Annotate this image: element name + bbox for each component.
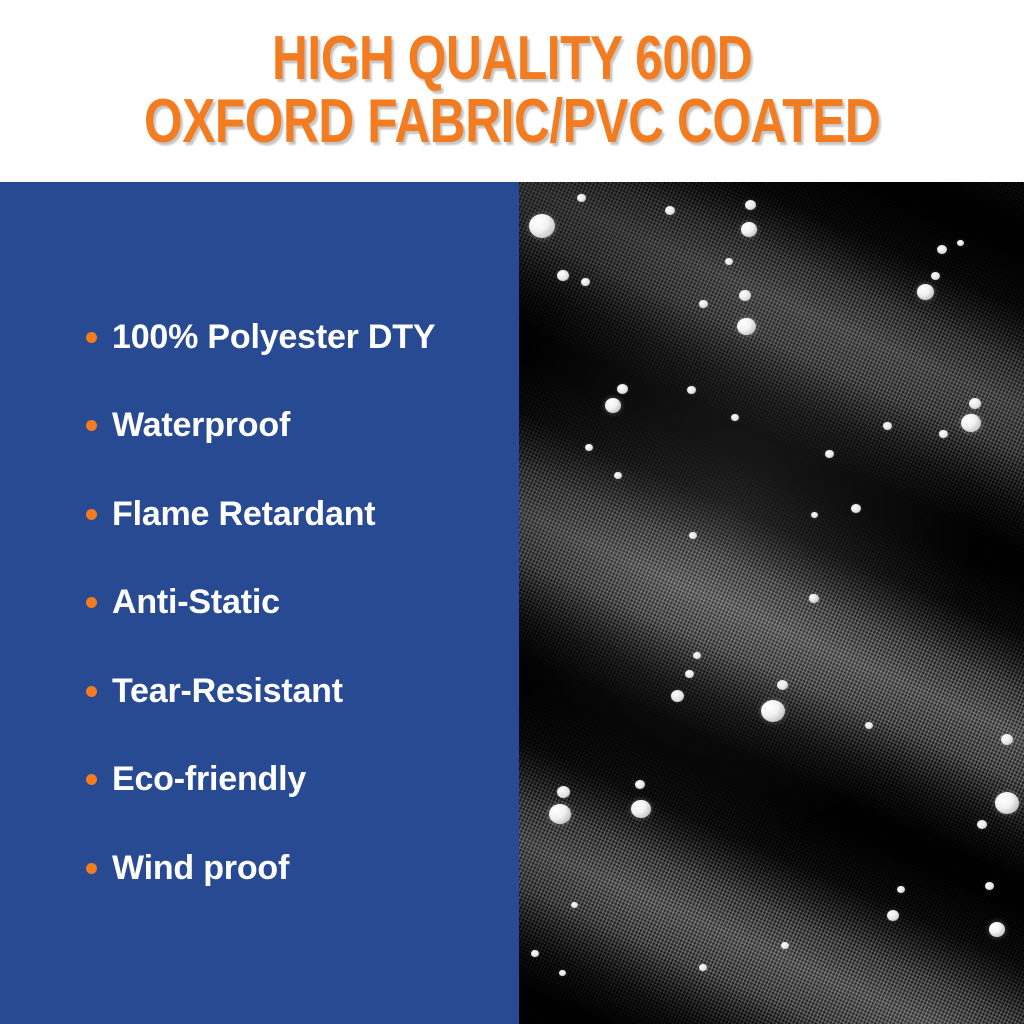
product-infographic: HIGH QUALITY 600D OXFORD FABRIC/PVC COAT…: [0, 0, 1024, 1024]
water-droplet: [549, 804, 571, 824]
feature-label: Wind proof: [112, 851, 289, 885]
water-droplet: [865, 722, 873, 729]
water-droplet-group: [519, 182, 1024, 1024]
water-droplet: [739, 290, 751, 301]
water-droplet: [995, 792, 1019, 814]
water-droplet: [731, 414, 739, 421]
features-panel: 100% Polyester DTYWaterproofFlame Retard…: [0, 182, 519, 1024]
water-droplet: [614, 472, 622, 479]
water-droplet: [531, 950, 539, 957]
water-droplet: [687, 386, 696, 394]
water-droplet: [577, 194, 586, 202]
water-droplet: [937, 245, 947, 254]
water-droplet: [635, 780, 645, 789]
header-band: HIGH QUALITY 600D OXFORD FABRIC/PVC COAT…: [0, 0, 1024, 182]
water-droplet: [581, 278, 590, 286]
water-droplet: [699, 300, 708, 308]
feature-item: Anti-Static: [86, 582, 280, 622]
water-droplet: [939, 430, 948, 438]
water-droplet: [883, 422, 892, 430]
water-droplet: [689, 532, 697, 539]
water-droplet: [957, 240, 964, 246]
water-droplet: [825, 450, 834, 458]
water-droplet: [917, 284, 934, 300]
water-droplet: [631, 800, 651, 818]
feature-label: Tear-Resistant: [112, 674, 343, 708]
water-droplet: [741, 222, 757, 237]
water-droplet: [851, 504, 861, 513]
water-droplet: [671, 690, 684, 702]
bullet-dot-icon: [86, 420, 97, 431]
feature-list: 100% Polyester DTYWaterproofFlame Retard…: [0, 182, 519, 1024]
water-droplet: [699, 964, 707, 971]
feature-item: Flame Retardant: [86, 494, 375, 534]
water-droplet: [557, 786, 570, 798]
water-droplet: [1001, 734, 1013, 745]
bullet-dot-icon: [86, 597, 97, 608]
feature-label: Waterproof: [112, 408, 290, 442]
water-droplet: [559, 970, 566, 976]
water-droplet: [745, 200, 756, 210]
water-droplet: [665, 206, 675, 215]
headline-line-1: HIGH QUALITY 600D: [272, 29, 752, 90]
headline-line-2: OXFORD FABRIC/PVC COATED: [144, 92, 880, 153]
bullet-dot-icon: [86, 686, 97, 697]
feature-label: 100% Polyester DTY: [112, 320, 435, 354]
water-droplet: [693, 652, 701, 659]
feature-item: Wind proof: [86, 848, 289, 888]
water-droplet: [685, 670, 694, 678]
water-droplet: [777, 680, 788, 690]
feature-item: Eco-friendly: [86, 759, 306, 799]
water-droplet: [989, 922, 1005, 937]
water-droplet: [585, 444, 593, 451]
feature-item: Tear-Resistant: [86, 671, 343, 711]
feature-item: 100% Polyester DTY: [86, 317, 435, 357]
water-droplet: [969, 398, 981, 409]
feature-label: Eco-friendly: [112, 762, 306, 796]
water-droplet: [887, 910, 899, 921]
water-droplet: [725, 258, 733, 265]
water-droplet: [605, 398, 621, 413]
water-droplet: [985, 882, 994, 890]
water-droplet: [811, 512, 818, 518]
bullet-dot-icon: [86, 332, 97, 343]
bullet-dot-icon: [86, 774, 97, 785]
feature-label: Flame Retardant: [112, 497, 375, 531]
water-droplet: [761, 700, 785, 722]
bullet-dot-icon: [86, 863, 97, 874]
water-droplet: [931, 272, 940, 280]
water-droplet: [977, 820, 987, 829]
water-droplet: [897, 886, 905, 893]
water-droplet: [781, 942, 789, 949]
feature-item: Waterproof: [86, 405, 290, 445]
feature-label: Anti-Static: [112, 585, 280, 619]
water-droplet: [961, 414, 981, 432]
water-droplet: [529, 214, 555, 238]
water-droplet: [557, 270, 569, 281]
water-droplet: [617, 384, 628, 394]
bullet-dot-icon: [86, 509, 97, 520]
water-droplet: [737, 318, 756, 335]
water-droplet: [571, 902, 578, 908]
fabric-photo: [519, 182, 1024, 1024]
